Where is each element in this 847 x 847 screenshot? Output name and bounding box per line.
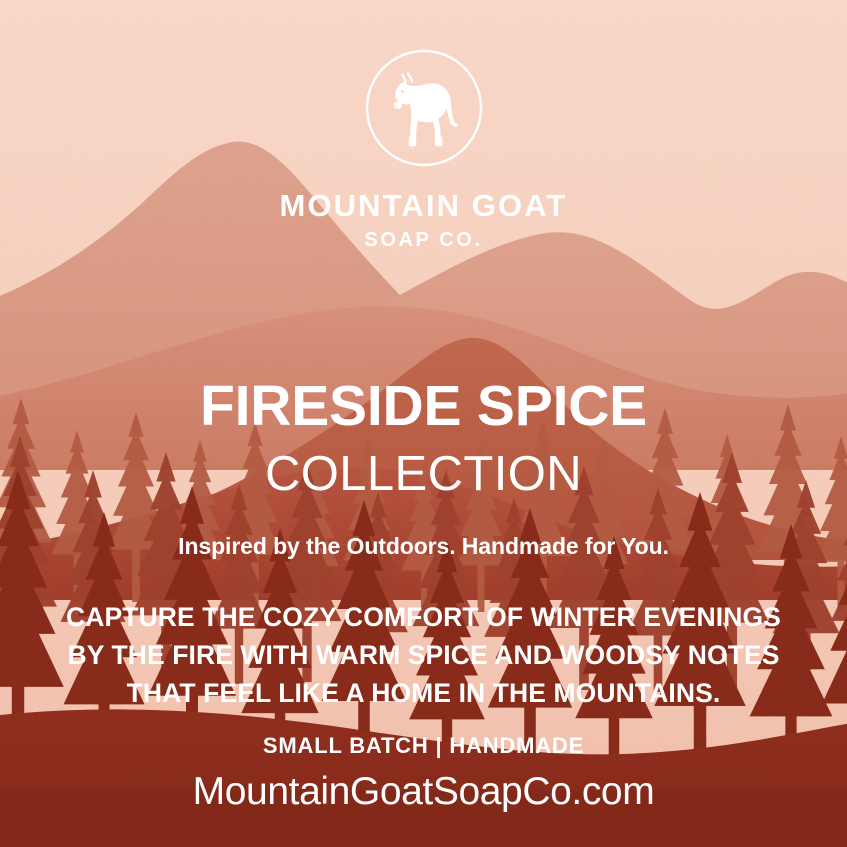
body-copy-line: THAT FEEL LIKE A HOME IN THE MOUNTAINS. [0,674,847,712]
brand-subtitle: SOAP CO. [0,230,847,250]
body-copy: CAPTURE THE COZY COMFORT OF WINTER EVENI… [0,598,847,712]
tagline: Inspired by the Outdoors. Handmade for Y… [0,535,847,558]
poster-content: MOUNTAIN GOAT SOAP CO. FIRESIDE SPICE CO… [0,0,847,847]
body-copy-line: CAPTURE THE COZY COMFORT OF WINTER EVENI… [0,598,847,636]
brand-logo [364,48,484,168]
product-badges: SMALL BATCH | HANDMADE [0,735,847,757]
brand-name: MOUNTAIN GOAT [0,190,847,221]
goat-silhouette-icon [394,72,457,146]
collection-subtitle: COLLECTION [0,450,847,499]
collection-title: FIRESIDE SPICE [0,378,847,435]
goat-in-circle-icon [364,48,484,168]
website-url[interactable]: MountainGoatSoapCo.com [0,772,847,811]
body-copy-line: BY THE FIRE WITH WARM SPICE AND WOODSY N… [0,636,847,674]
poster-canvas: MOUNTAIN GOAT SOAP CO. FIRESIDE SPICE CO… [0,0,847,847]
